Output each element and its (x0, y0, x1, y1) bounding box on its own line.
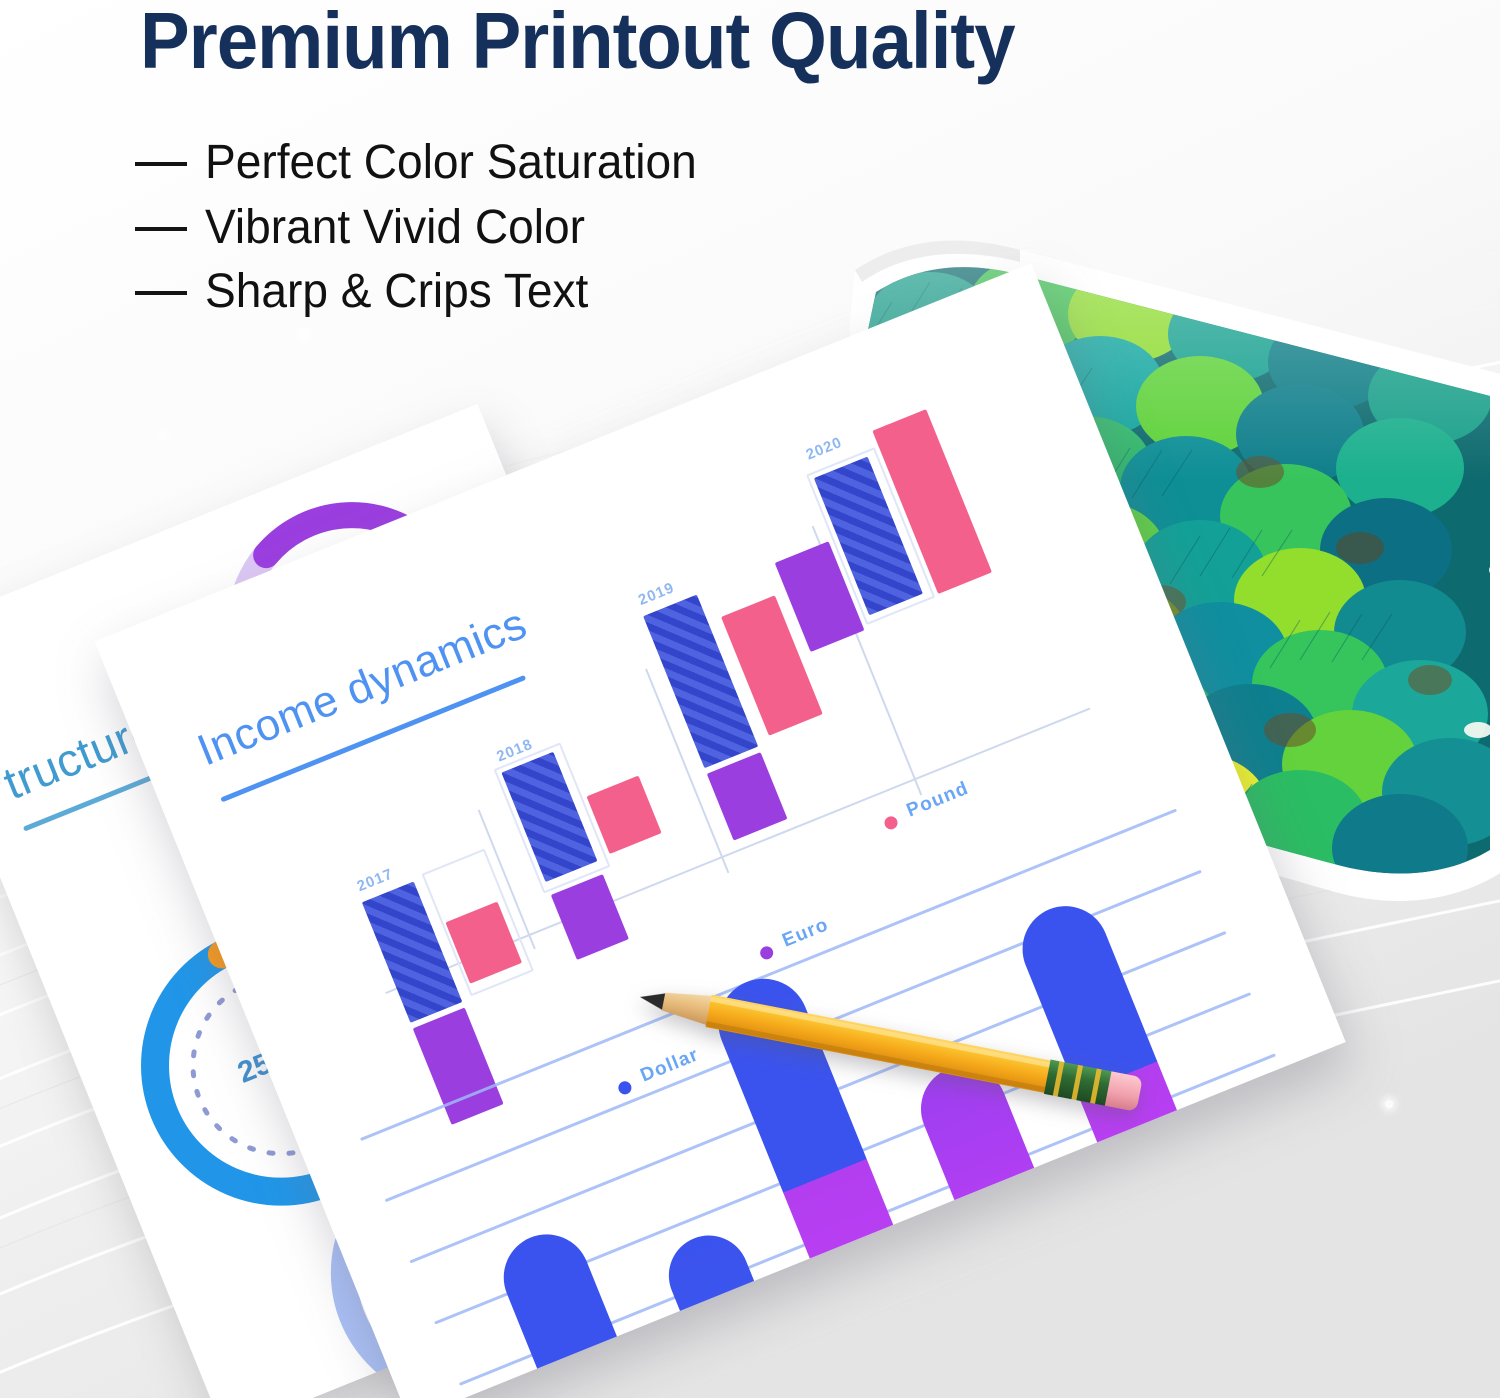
em-dash-icon (135, 291, 187, 295)
legend-dot-pound (883, 814, 900, 831)
bar-euro-2017 (413, 1008, 504, 1125)
list-item: Perfect Color Saturation (135, 134, 717, 193)
sparkle-dot (160, 432, 166, 438)
bar-euro-2018 (551, 874, 629, 960)
bullet-label: Perfect Color Saturation (205, 134, 697, 193)
year-label: 2020 (804, 434, 845, 464)
pencil-eraser (1105, 1071, 1143, 1111)
list-item: Vibrant Vivid Color (135, 199, 717, 258)
pencil-wood-cone (661, 987, 714, 1026)
bullet-label: Sharp & Crips Text (205, 263, 588, 322)
bullet-label: Vibrant Vivid Color (205, 199, 585, 258)
legend-label-dollar: Dollar (638, 1044, 703, 1087)
bar-euro-2019 (707, 752, 788, 840)
legend-dot-euro (758, 944, 775, 961)
list-item: Sharp & Crips Text (135, 263, 717, 322)
page-title: Premium Printout Quality (140, 0, 1256, 84)
legend-label-euro: Euro (779, 914, 832, 952)
sparkle-dot (1385, 1100, 1393, 1108)
feature-bullet-list: Perfect Color Saturation Vibrant Vivid C… (135, 134, 717, 328)
poster-canvas: tructure 25% (0, 0, 1500, 1398)
legend-label-pound: Pound (904, 778, 973, 823)
em-dash-icon (135, 227, 187, 231)
bar-placeholder-2018 (494, 742, 611, 893)
legend-dot-dollar (616, 1079, 633, 1096)
sparkle-dot (300, 330, 308, 338)
income-dynamics-title: Income dynamics (191, 599, 534, 776)
em-dash-icon (135, 162, 187, 166)
